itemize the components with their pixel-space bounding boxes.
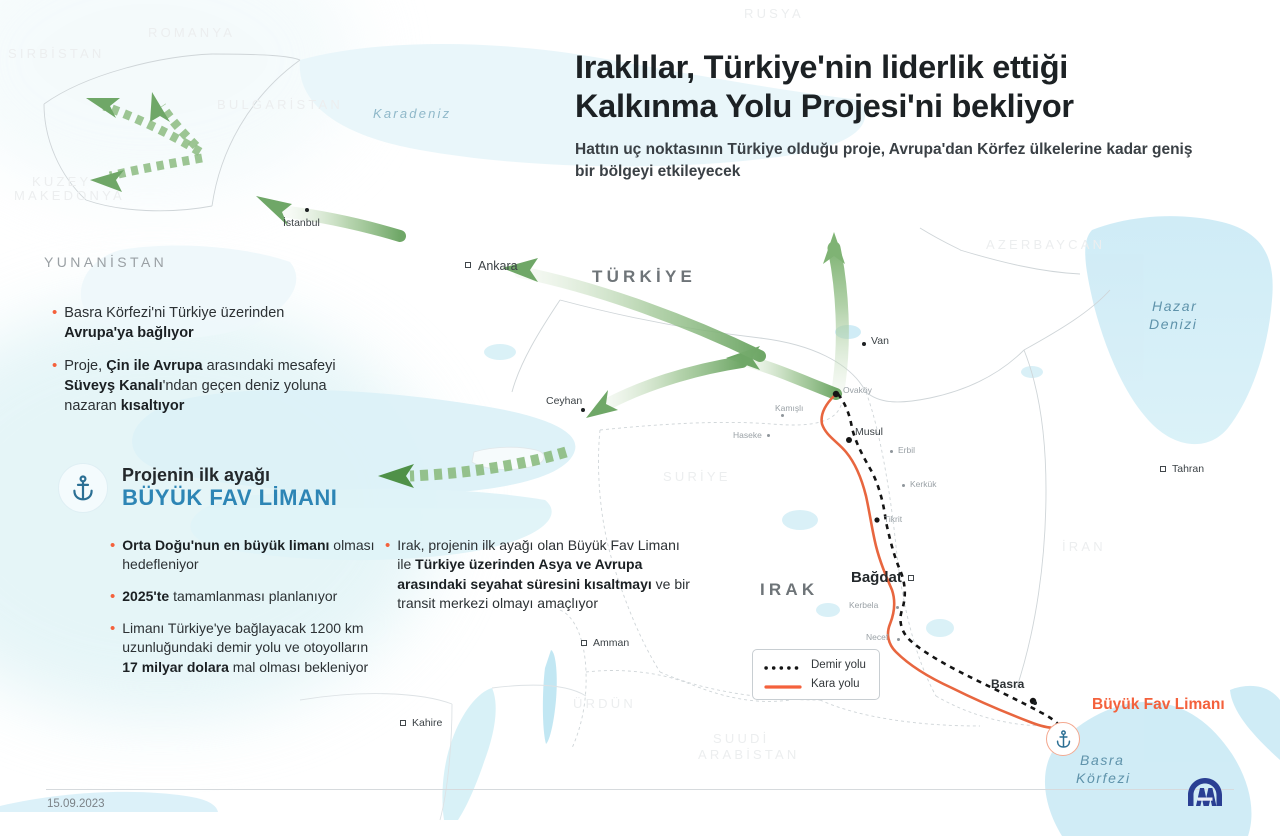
marker-necef bbox=[897, 638, 900, 641]
port-heading-text: Projenin ilk ayağı BÜYÜK FAV LİMANI bbox=[122, 465, 337, 512]
anchor-badge bbox=[58, 463, 108, 513]
map-label-ankara: Ankara bbox=[478, 260, 518, 273]
map-legend: Demir yolu Kara yolu bbox=[752, 649, 880, 700]
legend-label: Kara yolu bbox=[811, 678, 860, 690]
marker-van bbox=[862, 342, 866, 346]
bullet-dot-icon: • bbox=[52, 303, 57, 343]
arrow-dashed-romania bbox=[162, 106, 196, 146]
map-label-azerbaycan: AZERBAYCAN bbox=[986, 238, 1105, 252]
marker-istanbul bbox=[305, 208, 309, 212]
map-label-suriye: SURİYE bbox=[663, 470, 731, 484]
list-item: • Orta Doğu'nun en büyük limanı olması h… bbox=[110, 536, 378, 575]
legend-item-highway: Kara yolu bbox=[764, 678, 868, 690]
bullet-dot-icon: • bbox=[110, 536, 115, 575]
map-label-hazar-denizi: Denizi bbox=[1149, 316, 1198, 334]
map-label-romanya: ROMANYA bbox=[148, 26, 235, 40]
marker-kerkuk bbox=[902, 484, 905, 487]
bullet-text: 2025'te tamamlanması planlanıyor bbox=[122, 587, 337, 607]
legend-item-railway: Demir yolu bbox=[764, 659, 868, 671]
map-label-ovakoy: Ovaköy bbox=[843, 386, 872, 395]
map-label-irak: IRAK bbox=[760, 581, 818, 599]
footer-divider bbox=[46, 789, 1234, 790]
map-label-bulgaristan: BULGARİSTAN bbox=[217, 98, 343, 112]
legend-label: Demir yolu bbox=[811, 659, 866, 671]
map-label-haseke: Haseke bbox=[733, 431, 762, 440]
marker-tahran bbox=[1160, 466, 1166, 472]
headline-block: Iraklılar, Türkiye'nin liderlik ettiği K… bbox=[575, 48, 1215, 183]
map-label-musul: Musul bbox=[855, 427, 883, 438]
marker-haseke bbox=[767, 434, 770, 437]
map-label-kamisli: Kamışlı bbox=[775, 404, 803, 413]
bullet-text: Proje, Çin ile Avrupa arasındaki mesafey… bbox=[64, 356, 352, 416]
aa-logo bbox=[1184, 776, 1226, 810]
arrow-north bbox=[834, 248, 842, 390]
marker-kerbela bbox=[896, 606, 899, 609]
lake-iraq-1 bbox=[782, 510, 818, 530]
map-label-kerbela: Kerbela bbox=[849, 601, 878, 610]
map-label-buyuk-fav-limani: Büyük Fav Limanı bbox=[1092, 697, 1225, 713]
map-label-suudi: SUUDİ bbox=[713, 732, 769, 746]
page-subtitle: Hattın uç noktasının Türkiye olduğu proj… bbox=[575, 139, 1215, 183]
footer-wave bbox=[0, 792, 218, 812]
map-label-van: Van bbox=[871, 336, 889, 347]
page-title: Iraklılar, Türkiye'nin liderlik ettiği K… bbox=[575, 48, 1215, 126]
map-label-ceyhan: Ceyhan bbox=[546, 396, 582, 407]
arrow-dashed-romania-head bbox=[150, 92, 170, 122]
arrow-ceyhan bbox=[600, 362, 742, 408]
map-label-karadeniz: Karadeniz bbox=[373, 107, 451, 121]
infographic-canvas: RUSYA ROMANYA SIRBİSTAN BULGARİSTAN KUZE… bbox=[0, 0, 1280, 840]
map-label-kuzey: KUZEY bbox=[32, 175, 91, 189]
port-marker-anchor[interactable] bbox=[1046, 722, 1080, 756]
marker-kamisli bbox=[781, 414, 784, 417]
map-label-tahran: Tahran bbox=[1172, 464, 1204, 475]
map-label-arabistan: ARABİSTAN bbox=[698, 748, 800, 762]
lake-tuz bbox=[484, 344, 516, 360]
bullet-text: Irak, projenin ilk ayağı olan Büyük Fav … bbox=[397, 536, 695, 613]
arrow-dashed-macedonia bbox=[110, 158, 202, 176]
port-title: BÜYÜK FAV LİMANI bbox=[122, 485, 337, 511]
map-label-basra-korfezi: Körfezi bbox=[1076, 770, 1131, 788]
marker-ceyhan bbox=[581, 408, 585, 412]
highway-line-icon bbox=[764, 679, 802, 689]
jordan-water bbox=[543, 650, 557, 744]
map-label-tikrit: Tikrit bbox=[884, 515, 902, 524]
map-label-kahire: Kahire bbox=[412, 718, 442, 729]
list-item: • Basra Körfezi'ni Türkiye üzerinden Avr… bbox=[52, 303, 352, 343]
publish-date: 15.09.2023 bbox=[47, 798, 105, 810]
lake-iraq-2 bbox=[816, 603, 840, 617]
list-item: • 2025'te tamamlanması planlanıyor bbox=[110, 587, 378, 607]
map-label-kerkuk: Kerkük bbox=[910, 480, 936, 489]
map-label-basra: Basra bbox=[1080, 752, 1125, 770]
list-item: • Limanı Türkiye'ye bağlayacak 1200 km u… bbox=[110, 619, 378, 677]
map-label-urdun: ÜRDÜN bbox=[573, 697, 636, 711]
marker-bagdat bbox=[908, 575, 914, 581]
marker-ankara bbox=[465, 262, 471, 268]
railway-dotted-icon bbox=[764, 660, 802, 670]
map-label-turkiye: TÜRKİYE bbox=[592, 268, 696, 286]
map-label-bagdat: Bağdat bbox=[851, 570, 902, 586]
map-label-erbil: Erbil bbox=[898, 446, 915, 455]
bullet-list-middle: • Irak, projenin ilk ayağı olan Büyük Fa… bbox=[385, 536, 695, 626]
marker-kahire bbox=[400, 720, 406, 726]
page-title-line2: Kalkınma Yolu Projesi'ni bekliyor bbox=[575, 88, 1074, 124]
map-label-sirbistan: SIRBİSTAN bbox=[8, 47, 104, 61]
bullet-text: Orta Doğu'nun en büyük limanı olması hed… bbox=[122, 536, 378, 575]
bullet-dot-icon: • bbox=[52, 356, 57, 416]
marker-erbil bbox=[890, 450, 893, 453]
marker-amman bbox=[581, 640, 587, 646]
map-label-necef: Necef bbox=[866, 633, 888, 642]
bullet-dot-icon: • bbox=[110, 619, 115, 677]
marker-basra bbox=[1033, 701, 1037, 705]
bullet-text: Basra Körfezi'ni Türkiye üzerinden Avrup… bbox=[64, 303, 352, 343]
map-label-basra-city: Basra bbox=[991, 678, 1024, 691]
map-label-amman: Amman bbox=[593, 638, 629, 649]
map-label-hazar: Hazar bbox=[1152, 298, 1197, 316]
lake-iraq-3 bbox=[926, 619, 954, 637]
anchor-icon bbox=[71, 475, 95, 502]
persian-gulf-2 bbox=[1230, 686, 1280, 760]
bullet-text: Limanı Türkiye'ye bağlayacak 1200 km uzu… bbox=[122, 619, 378, 677]
persian-gulf bbox=[1045, 702, 1252, 836]
port-kicker: Projenin ilk ayağı bbox=[122, 465, 337, 486]
bullet-dot-icon: • bbox=[110, 587, 115, 607]
bullet-list-main: • Basra Körfezi'ni Türkiye üzerinden Avr… bbox=[52, 303, 352, 429]
map-label-yunanistan: YUNANİSTAN bbox=[44, 255, 167, 270]
page-title-line1: Iraklılar, Türkiye'nin liderlik ettiği bbox=[575, 49, 1068, 85]
map-label-makedonya: MAKEDONYA bbox=[14, 189, 125, 203]
list-item: • Irak, projenin ilk ayağı olan Büyük Fa… bbox=[385, 536, 695, 613]
map-label-iran: İRAN bbox=[1062, 540, 1106, 554]
bullet-list-port: • Orta Doğu'nun en büyük limanı olması h… bbox=[110, 536, 378, 689]
map-label-rusya: RUSYA bbox=[744, 7, 804, 21]
port-heading-block: Projenin ilk ayağı BÜYÜK FAV LİMANI bbox=[58, 463, 337, 513]
list-item: • Proje, Çin ile Avrupa arasındaki mesaf… bbox=[52, 356, 352, 416]
map-label-istanbul: İstanbul bbox=[283, 218, 320, 229]
anchor-icon bbox=[1055, 730, 1072, 749]
bullet-dot-icon: • bbox=[385, 536, 390, 613]
